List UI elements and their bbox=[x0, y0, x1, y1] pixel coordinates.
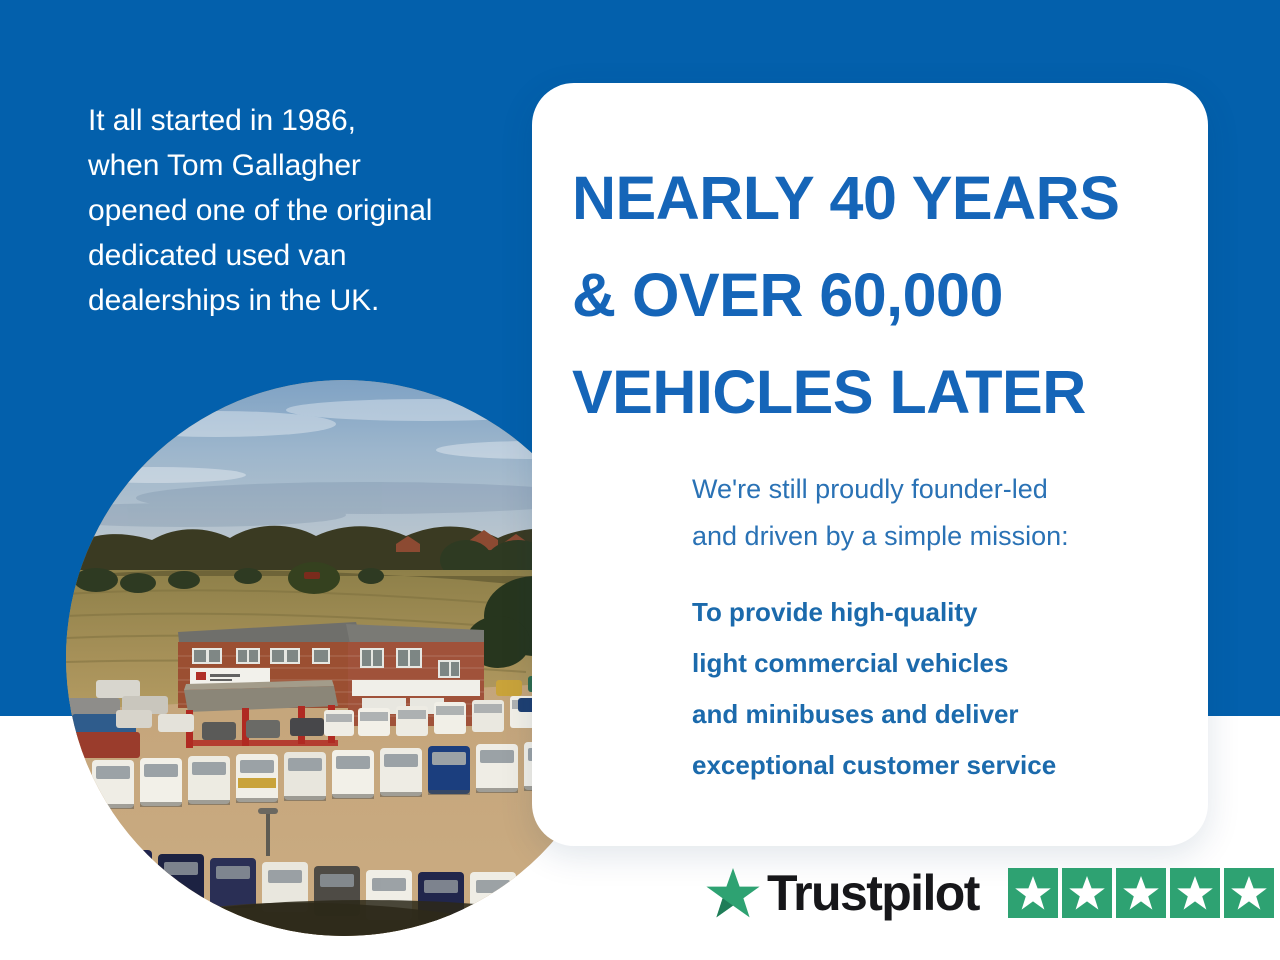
intro-paragraph: It all started in 1986, when Tom Gallagh… bbox=[88, 98, 508, 323]
page-title: NEARLY 40 YEARS & OVER 60,000 VEHICLES L… bbox=[572, 150, 1192, 441]
lead-paragraph: We're still proudly founder-led and driv… bbox=[692, 466, 1192, 560]
mission-line: To provide high-quality bbox=[692, 587, 1192, 638]
trustpilot-logo[interactable]: Trustpilot bbox=[705, 866, 979, 920]
trustpilot-star-1 bbox=[1008, 868, 1058, 918]
intro-line: dedicated used van bbox=[88, 233, 508, 278]
mission-line: exceptional customer service bbox=[692, 740, 1192, 791]
lead-line: and driven by a simple mission: bbox=[692, 513, 1192, 560]
trustpilot-star-4 bbox=[1170, 868, 1220, 918]
headline-line: NEARLY 40 YEARS bbox=[572, 150, 1192, 247]
mission-line: light commercial vehicles bbox=[692, 638, 1192, 689]
trustpilot-star-icon bbox=[705, 866, 761, 920]
intro-line: dealerships in the UK. bbox=[88, 278, 508, 323]
intro-line: opened one of the original bbox=[88, 188, 508, 233]
intro-line: It all started in 1986, bbox=[88, 98, 508, 143]
lead-line: We're still proudly founder-led bbox=[692, 466, 1192, 513]
trustpilot-wordmark: Trustpilot bbox=[767, 866, 979, 920]
intro-line: when Tom Gallagher bbox=[88, 143, 508, 188]
trustpilot-star-3 bbox=[1116, 868, 1166, 918]
trustpilot-star-5 bbox=[1224, 868, 1274, 918]
mission-statement: To provide high-quality light commercial… bbox=[692, 587, 1192, 791]
trustpilot-star-rating[interactable] bbox=[1008, 868, 1274, 918]
headline-line: & OVER 60,000 bbox=[572, 247, 1192, 344]
trustpilot-star-2 bbox=[1062, 868, 1112, 918]
mission-line: and minibuses and deliver bbox=[692, 689, 1192, 740]
trustpilot-rating[interactable]: Trustpilot bbox=[705, 866, 1274, 920]
headline-line: VEHICLES LATER bbox=[572, 344, 1192, 441]
